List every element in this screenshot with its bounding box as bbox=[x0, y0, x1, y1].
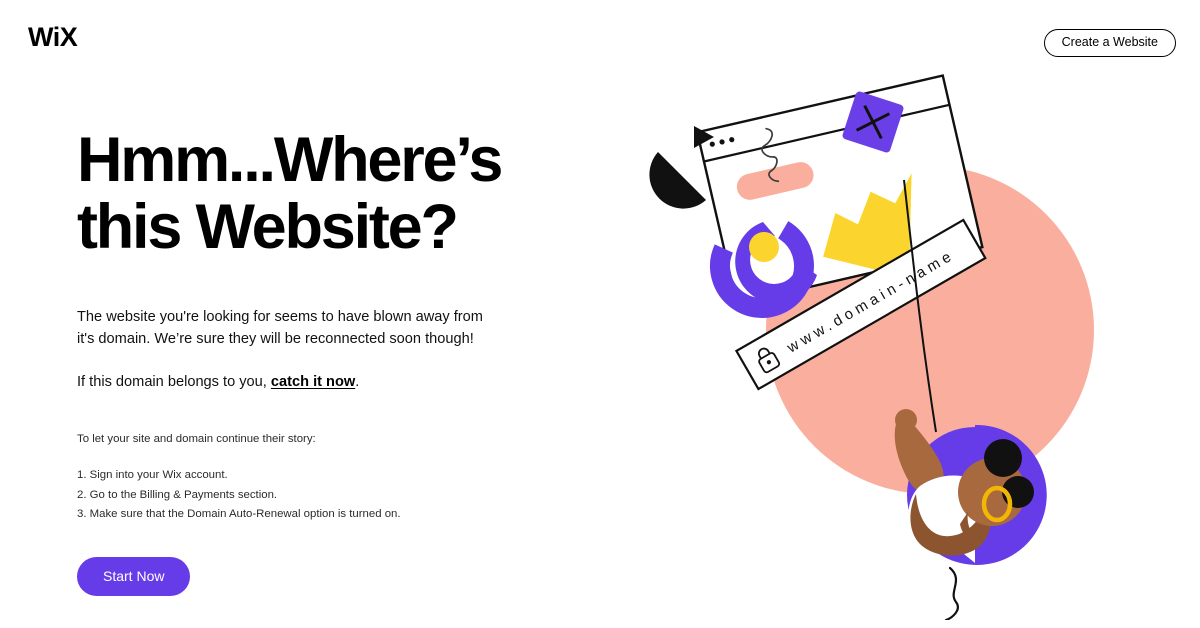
domain-sentence-suffix: . bbox=[355, 374, 359, 390]
list-item: 1. Sign into your Wix account. bbox=[77, 466, 597, 486]
list-item: 3. Make sure that the Domain Auto-Renewa… bbox=[77, 505, 597, 525]
headline-line-1: Hmm...Where’s bbox=[77, 125, 501, 195]
page-title: Hmm...Where’s this Website? bbox=[77, 127, 547, 262]
headline-line-2: this Website? bbox=[77, 194, 547, 261]
wix-logo[interactable]: WiX bbox=[28, 24, 77, 51]
black-half-circle bbox=[649, 152, 706, 209]
hero-illustration: www.domain-name bbox=[620, 40, 1180, 620]
content-column: Hmm...Where’s this Website? The website … bbox=[77, 127, 597, 596]
kite-tail bbox=[946, 568, 958, 620]
list-item: 2. Go to the Billing & Payments section. bbox=[77, 486, 597, 506]
catch-it-now-link[interactable]: catch it now bbox=[271, 374, 355, 390]
domain-sentence-prefix: If this domain belongs to you, bbox=[77, 374, 271, 390]
yellow-dot bbox=[749, 232, 779, 262]
error-page: WiX Create a Website Hmm...Where’s this … bbox=[0, 0, 1200, 628]
domain-ownership-line: If this domain belongs to you, catch it … bbox=[77, 372, 597, 394]
intro-paragraph: The website you're looking for seems to … bbox=[77, 306, 492, 350]
person-hand bbox=[895, 409, 917, 431]
steps-list: 1. Sign into your Wix account. 2. Go to … bbox=[77, 466, 597, 525]
person-hair-bun-top bbox=[984, 439, 1022, 477]
start-now-button[interactable]: Start Now bbox=[77, 557, 190, 596]
steps-intro: To let your site and domain continue the… bbox=[77, 431, 597, 448]
